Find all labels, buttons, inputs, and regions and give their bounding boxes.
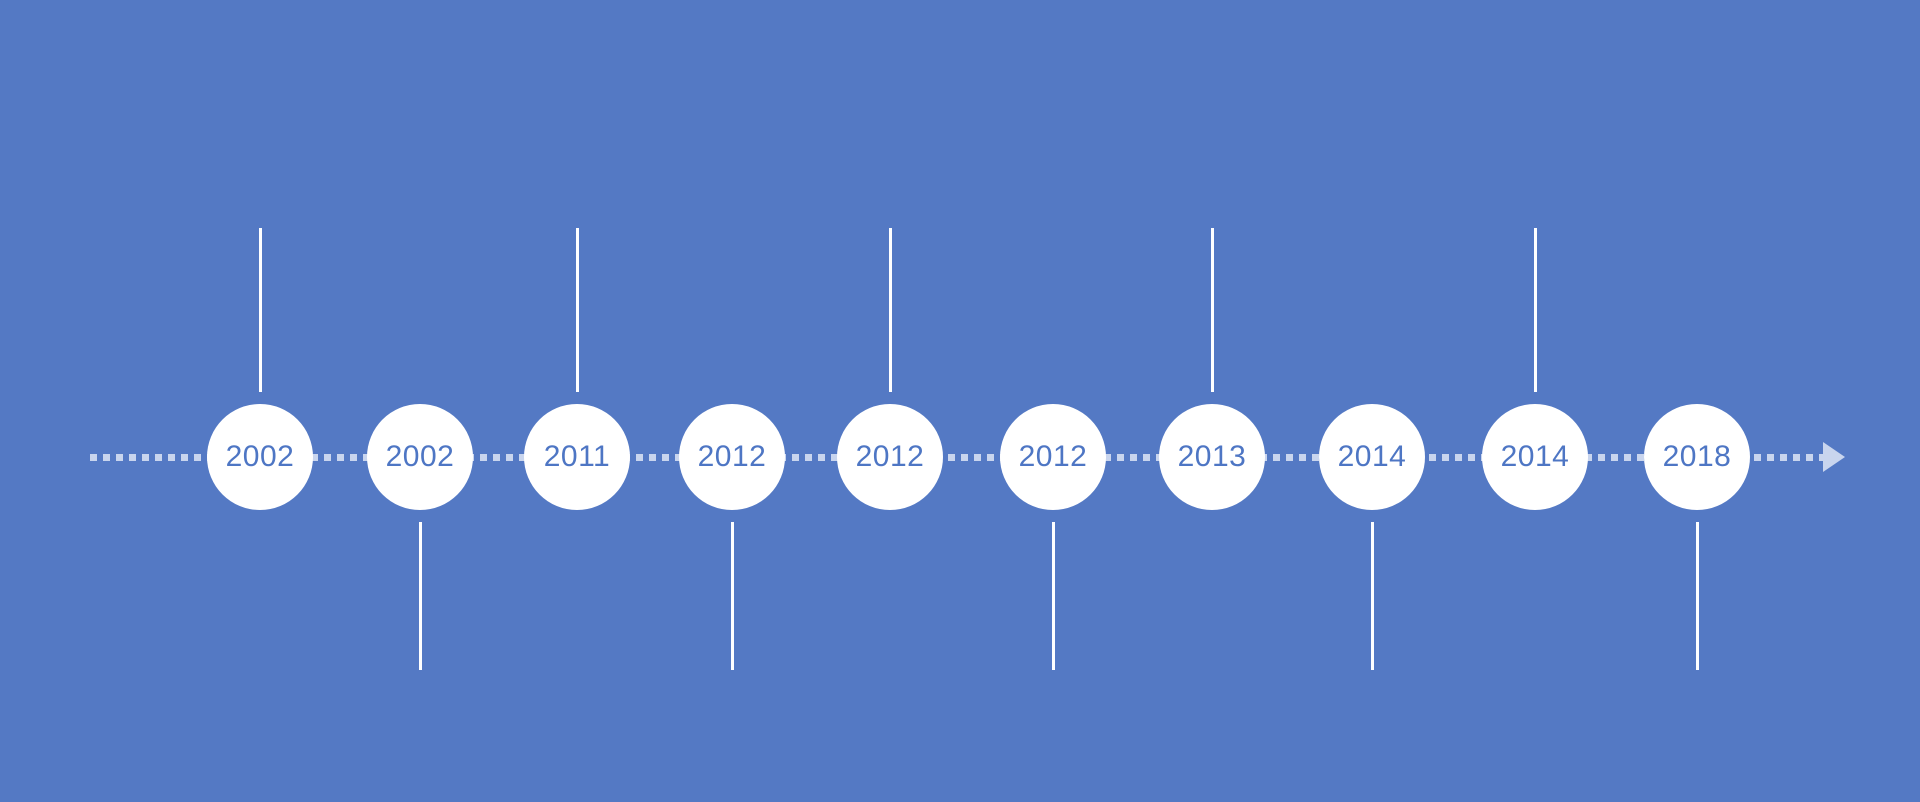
timeline-connector-stem-up xyxy=(259,228,262,392)
timeline-node-circle[interactable]: 2012 xyxy=(837,404,943,510)
timeline-connector-stem-down xyxy=(419,522,422,670)
timeline-connector-stem-up xyxy=(889,228,892,392)
timeline-node-circle[interactable]: 2002 xyxy=(207,404,313,510)
timeline-node-year-label: 2012 xyxy=(856,442,925,472)
timeline-node-year-label: 2002 xyxy=(226,442,295,472)
timeline-connector-stem-down xyxy=(1052,522,1055,670)
timeline-node-circle[interactable]: 2012 xyxy=(679,404,785,510)
timeline-node-circle[interactable]: 2014 xyxy=(1482,404,1588,510)
timeline-node-year-label: 2013 xyxy=(1178,442,1247,472)
timeline-connector-stem-down xyxy=(1371,522,1374,670)
timeline-node-year-label: 2012 xyxy=(1019,442,1088,472)
timeline-node-year-label: 2002 xyxy=(386,442,455,472)
timeline-node-year-label: 2014 xyxy=(1338,442,1407,472)
timeline-node-circle[interactable]: 2013 xyxy=(1159,404,1265,510)
timeline-node-circle[interactable]: 2012 xyxy=(1000,404,1106,510)
timeline-canvas: 2002200220112012201220122013201420142018 xyxy=(0,0,1920,802)
timeline-connector-stem-down xyxy=(1696,522,1699,670)
timeline-node-circle[interactable]: 2011 xyxy=(524,404,630,510)
timeline-node-circle[interactable]: 2002 xyxy=(367,404,473,510)
arrow-right-icon xyxy=(1823,442,1845,472)
timeline-node-year-label: 2011 xyxy=(544,442,611,472)
timeline-node-circle[interactable]: 2014 xyxy=(1319,404,1425,510)
timeline-connector-stem-up xyxy=(576,228,579,392)
timeline-node-circle[interactable]: 2018 xyxy=(1644,404,1750,510)
timeline-node-year-label: 2012 xyxy=(698,442,767,472)
timeline-node-year-label: 2018 xyxy=(1663,442,1732,472)
timeline-node-year-label: 2014 xyxy=(1501,442,1570,472)
timeline-connector-stem-up xyxy=(1534,228,1537,392)
timeline-connector-stem-down xyxy=(731,522,734,670)
timeline-connector-stem-up xyxy=(1211,228,1214,392)
